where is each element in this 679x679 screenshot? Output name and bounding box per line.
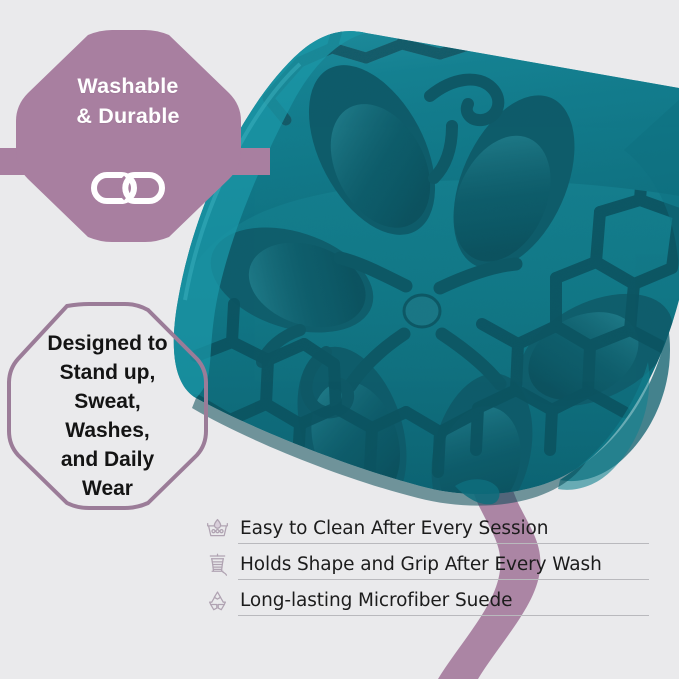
thread-spool-icon bbox=[201, 549, 233, 579]
feature-row-long-lasting: Long-lasting Microfiber Suede bbox=[201, 582, 641, 618]
recycle-icon bbox=[201, 585, 233, 615]
badge-designed-line-6: Wear bbox=[15, 474, 200, 503]
feature-underline-2 bbox=[238, 579, 649, 580]
wash-basin-icon bbox=[201, 513, 233, 543]
feature-row-holds-shape: Holds Shape and Grip After Every Wash bbox=[201, 546, 641, 582]
badge-designed-to-stand-up: Designed to Stand up, Sweat, Washes, and… bbox=[5, 301, 210, 511]
feature-underline-1 bbox=[238, 543, 649, 544]
chain-link-icon bbox=[90, 166, 166, 210]
badge-washable-title: Washable & Durable bbox=[14, 71, 242, 131]
hexagon-shape-filled bbox=[14, 29, 242, 243]
badge-washable-line2: & Durable bbox=[14, 101, 242, 131]
badge-washable-durable: Washable & Durable bbox=[14, 29, 242, 243]
feature-label-long-lasting: Long-lasting Microfiber Suede bbox=[240, 590, 512, 611]
feature-underline-3 bbox=[238, 615, 649, 616]
feature-list: Easy to Clean After Every Session bbox=[201, 510, 641, 618]
badge-designed-line-4: Washes, bbox=[15, 416, 200, 445]
badge-designed-line-5: and Daily bbox=[15, 445, 200, 474]
badge-designed-line-3: Sweat, bbox=[15, 387, 200, 416]
feature-label-holds-shape: Holds Shape and Grip After Every Wash bbox=[240, 554, 602, 575]
feature-label-easy-to-clean: Easy to Clean After Every Session bbox=[240, 518, 548, 539]
infographic-canvas: Washable & Durable Designed to Stand up,… bbox=[0, 0, 679, 679]
feature-row-easy-to-clean: Easy to Clean After Every Session bbox=[201, 510, 641, 546]
badge-designed-text: Designed to Stand up, Sweat, Washes, and… bbox=[15, 329, 200, 503]
badge-washable-line1: Washable bbox=[14, 71, 242, 101]
badge-designed-line-1: Designed to bbox=[15, 329, 200, 358]
badge-designed-line-2: Stand up, bbox=[15, 358, 200, 387]
